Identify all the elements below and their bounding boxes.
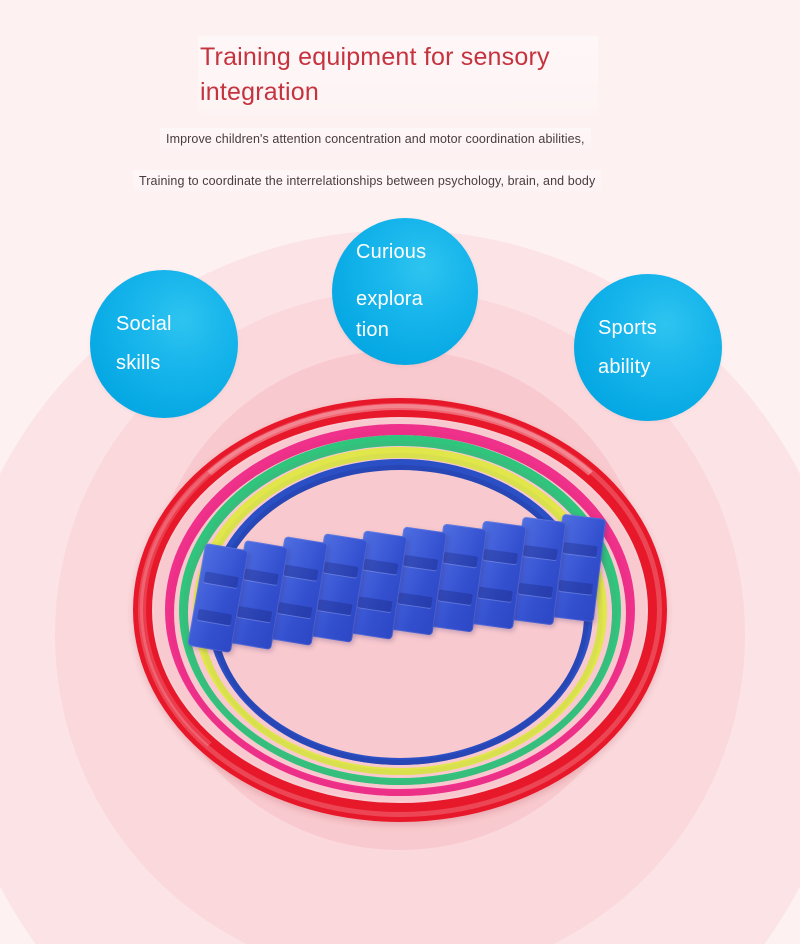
promotional-poster: Training equipment for sensory integrati…: [0, 0, 800, 944]
badge-social-line-1: Social: [116, 305, 238, 344]
badge-curious-line-1: Curious: [356, 237, 478, 268]
badge-social-line-2: skills: [116, 344, 238, 383]
badge-sports-line-1: Sports: [598, 309, 722, 348]
badge-curious-exploration[interactable]: Curious explora tion: [332, 218, 478, 365]
badge-curious-line-3: tion: [356, 315, 478, 346]
connector-clip-row: [196, 512, 600, 654]
badge-sports-line-2: ability: [598, 348, 722, 387]
product-image: [0, 0, 800, 944]
badge-sports-ability[interactable]: Sports ability: [574, 274, 722, 421]
badge-curious-line-2: explora: [356, 284, 478, 315]
badge-social-skills[interactable]: Social skills: [90, 270, 238, 418]
